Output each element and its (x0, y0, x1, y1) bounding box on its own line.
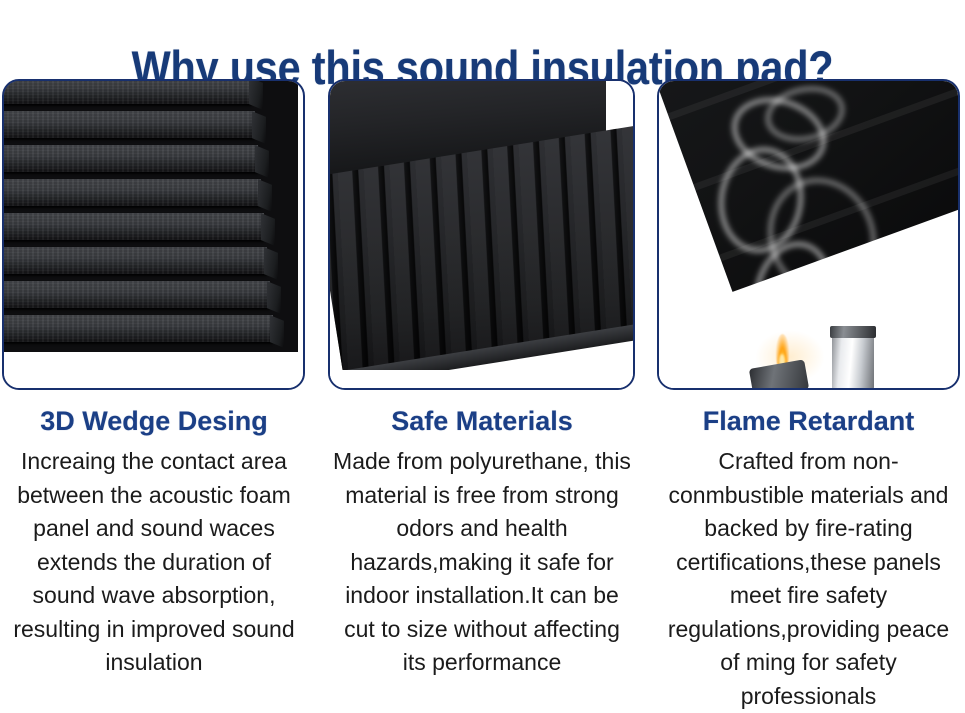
feature-cards-row (0, 79, 965, 391)
feature-card-wedge-design (2, 79, 305, 390)
card-body-flame-retardant: Crafted from non-conmbustible materials … (652, 445, 965, 713)
lighter-cap (830, 326, 876, 338)
feature-text-wedge-design: 3D Wedge Desing Increaing the contact ar… (0, 405, 308, 680)
card-heading-safe-materials: Safe Materials (326, 405, 638, 437)
flame-test-graphic (659, 81, 958, 388)
card-photo-base (330, 370, 633, 388)
flame-test-photo (659, 81, 958, 388)
feature-card-safe-materials (328, 79, 635, 390)
card-heading-wedge-design: 3D Wedge Desing (0, 405, 308, 437)
feature-text-flame-retardant: Flame Retardant Crafted from non-conmbus… (652, 405, 965, 713)
feature-card-flame-retardant (657, 79, 960, 390)
foam-wedge-panel-photo (4, 81, 303, 388)
card-body-safe-materials: Made from polyurethane, this material is… (326, 445, 638, 680)
card-body-wedge-design: Increaing the contact area between the a… (0, 445, 308, 680)
lighter-body (832, 334, 874, 388)
foam-roll-graphic (330, 81, 633, 388)
card-heading-flame-retardant: Flame Retardant (652, 405, 965, 437)
feature-text-safe-materials: Safe Materials Made from polyurethane, t… (326, 405, 638, 680)
card-photo-base (4, 352, 303, 388)
rolled-foam-sheet-photo (330, 81, 633, 388)
foam-wedge-stack-graphic (4, 81, 298, 359)
